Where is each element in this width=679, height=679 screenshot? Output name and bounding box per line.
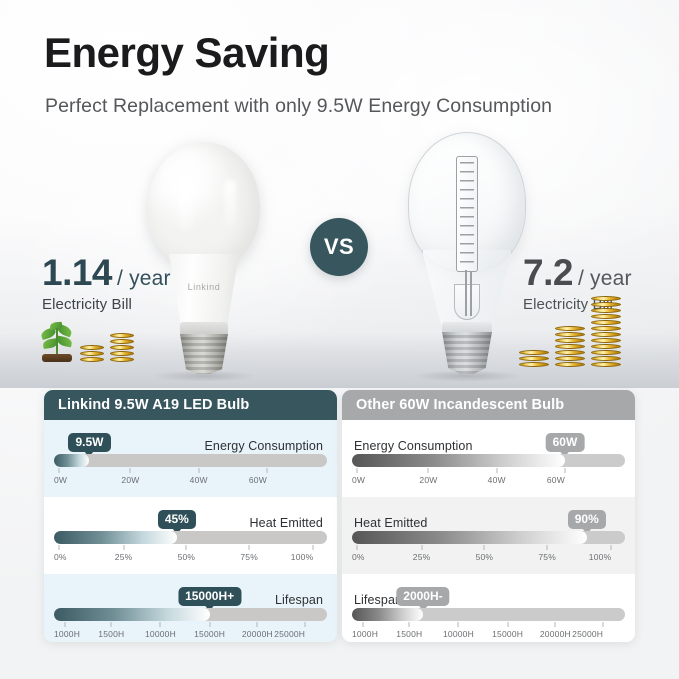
axis-ticks — [352, 545, 625, 552]
axis-tick-label: 60W — [249, 475, 267, 485]
axis-tick-label: 0W — [352, 475, 365, 485]
axis-tick-label: 100% — [291, 552, 314, 562]
axis-tick — [507, 622, 508, 627]
axis-tick — [611, 545, 612, 550]
led-bulb-highlight-left — [178, 176, 193, 232]
metric-bar-track — [54, 454, 327, 467]
metric-bar-track — [352, 608, 625, 621]
metric-header: Energy Consumption9.5W — [54, 432, 327, 454]
axis-tick-label: 0W — [54, 475, 67, 485]
axis-tick-label: 1500H — [396, 629, 422, 639]
axis-tick — [409, 622, 410, 627]
metric-row: Lifespan2000H-1000H1500H10000H15000H2000… — [342, 574, 635, 642]
metric-row: Heat Emitted90%0%25%50%75%100% — [342, 497, 635, 574]
metric-header: Heat Emitted90% — [352, 509, 625, 531]
metric-label: Lifespan — [275, 593, 323, 607]
metric-header: Energy Consumption60W — [352, 432, 625, 454]
axis-ticks — [352, 468, 625, 475]
metric-row: Lifespan15000H+1000H1500H10000H15000H200… — [44, 574, 337, 642]
metric-label: Heat Emitted — [354, 516, 427, 530]
axis-tick — [257, 622, 258, 627]
incandescent-cost-coins — [519, 296, 621, 367]
metric-bar-fill — [54, 608, 210, 621]
axis-tick — [547, 545, 548, 550]
axis-tick-label: 0% — [54, 552, 67, 562]
axis-tick — [111, 622, 112, 627]
axis-tick — [496, 468, 497, 473]
led-electricity-stat: 1.14 / year Electricity Bill — [42, 252, 171, 313]
axis-tick-label: 75% — [538, 552, 556, 562]
axis-tick — [362, 622, 363, 627]
axis-tick — [428, 468, 429, 473]
axis-tick-label: 50% — [178, 552, 196, 562]
axis-tick-label: 10000H — [443, 629, 474, 639]
metric-bar-track — [352, 454, 625, 467]
axis-tick-label: 1000H — [352, 629, 378, 639]
incandescent-bill-value: 7.2 — [523, 252, 573, 294]
axis-tick — [266, 468, 267, 473]
axis-tick — [313, 545, 314, 550]
axis-tick — [160, 622, 161, 627]
incandescent-bulb-screw-base — [441, 332, 493, 374]
axis-tick-label: 1000H — [54, 629, 80, 639]
axis-tick-label: 60W — [547, 475, 565, 485]
axis-tick-labels: 1000H1500H10000H15000H20000H25000H — [352, 629, 625, 642]
incandescent-bill-period: / year — [578, 267, 632, 291]
axis-ticks — [54, 622, 327, 629]
metric-header: Heat Emitted45% — [54, 509, 327, 531]
axis-tick-labels: 0W20W40W60W — [54, 475, 327, 488]
axis-tick — [198, 468, 199, 473]
metric-row: Energy Consumption60W0W20W40W60W — [342, 420, 635, 497]
metric-bar-fill — [352, 454, 565, 467]
metric-bar-track — [54, 531, 327, 544]
metric-bar-fill — [352, 608, 423, 621]
led-savings-coins — [40, 318, 134, 362]
axis-tick — [421, 545, 422, 550]
metric-bar-track — [54, 608, 327, 621]
page-title: Energy Saving — [44, 30, 329, 75]
incandescent-metrics: Energy Consumption60W0W20W40W60WHeat Emi… — [342, 420, 635, 642]
axis-tick-label: 15000H — [492, 629, 523, 639]
coin-stack-medium — [555, 326, 585, 367]
axis-tick — [130, 468, 131, 473]
coin-stack-small — [80, 345, 104, 362]
incandescent-panel-title: Other 60W Incandescent Bulb — [342, 390, 635, 420]
metric-value-text: 9.5W — [75, 435, 103, 449]
axis-tick — [357, 545, 358, 550]
led-metrics: Energy Consumption9.5W0W20W40W60WHeat Em… — [44, 420, 337, 642]
led-bulb-collar — [180, 322, 228, 336]
axis-ticks — [54, 468, 327, 475]
incandescent-comparison-panel: Other 60W Incandescent Bulb Energy Consu… — [342, 390, 635, 642]
led-bulb-glass — [148, 142, 260, 270]
axis-tick-label: 25000H — [274, 629, 305, 639]
axis-tick — [64, 622, 65, 627]
metric-value-bubble: 45% — [158, 510, 196, 529]
vs-badge-label: VS — [324, 234, 354, 260]
axis-tick — [209, 622, 210, 627]
axis-tick-label: 1500H — [98, 629, 124, 639]
axis-tick — [555, 622, 556, 627]
axis-tick-label: 15000H — [194, 629, 225, 639]
axis-tick — [305, 622, 306, 627]
axis-tick-label: 25% — [115, 552, 133, 562]
metric-value-bubble: 15000H+ — [178, 587, 241, 606]
metric-label: Energy Consumption — [204, 439, 323, 453]
axis-tick-label: 0% — [352, 552, 365, 562]
metric-header: Lifespan15000H+ — [54, 586, 327, 608]
incandescent-bulb-image — [408, 132, 526, 374]
axis-tick — [458, 622, 459, 627]
led-bill-caption: Electricity Bill — [42, 296, 171, 313]
axis-tick — [186, 545, 187, 550]
incandescent-filament-stem-left — [465, 270, 467, 316]
axis-tick-label: 25000H — [572, 629, 603, 639]
axis-tick — [564, 468, 565, 473]
metric-row: Energy Consumption9.5W0W20W40W60W — [44, 420, 337, 497]
metric-value-bubble: 90% — [568, 510, 606, 529]
metric-value-text: 60W — [553, 435, 578, 449]
axis-tick — [249, 545, 250, 550]
axis-tick-label: 40W — [488, 475, 506, 485]
axis-tick-label: 20W — [121, 475, 139, 485]
metric-bar-fill — [352, 531, 587, 544]
metric-value-text: 2000H- — [403, 589, 442, 603]
led-bill-value: 1.14 — [42, 252, 112, 294]
axis-tick-label: 100% — [589, 552, 612, 562]
led-panel-title: Linkind 9.5W A19 LED Bulb — [44, 390, 337, 420]
axis-tick-label: 40W — [190, 475, 208, 485]
metric-bar-track — [352, 531, 625, 544]
axis-tick — [484, 545, 485, 550]
axis-tick — [59, 545, 60, 550]
axis-tick-label: 10000H — [145, 629, 176, 639]
metric-value-text: 45% — [165, 512, 189, 526]
coin-stack-large — [591, 296, 621, 367]
axis-tick-label: 20000H — [540, 629, 571, 639]
page-subtitle: Perfect Replacement with only 9.5W Energ… — [45, 95, 552, 118]
axis-tick-label: 20000H — [242, 629, 273, 639]
axis-tick — [357, 468, 358, 473]
metric-value-bubble: 60W — [546, 433, 585, 452]
axis-tick — [603, 622, 604, 627]
axis-tick-label: 25% — [413, 552, 431, 562]
metric-value-text: 90% — [575, 512, 599, 526]
metric-label: Lifespan — [354, 593, 402, 607]
incandescent-filament-coil — [460, 162, 474, 266]
incandescent-filament-base — [454, 284, 480, 320]
led-comparison-panel: Linkind 9.5W A19 LED Bulb Energy Consump… — [44, 390, 337, 642]
metric-row: Heat Emitted45%0%25%50%75%100% — [44, 497, 337, 574]
metric-header: Lifespan2000H- — [352, 586, 625, 608]
axis-tick — [123, 545, 124, 550]
metric-label: Heat Emitted — [250, 516, 323, 530]
axis-tick-labels: 0W20W40W60W — [352, 475, 625, 488]
metric-value-text: 15000H+ — [185, 589, 234, 603]
metric-value-bubble: 9.5W — [68, 433, 110, 452]
led-bulb-highlight-right — [224, 180, 236, 228]
led-bill-period: / year — [117, 267, 171, 291]
coin-stack-small — [519, 350, 549, 367]
axis-tick-label: 75% — [240, 552, 258, 562]
axis-tick-labels: 0%25%50%75%100% — [352, 552, 625, 565]
axis-tick-label: 20W — [419, 475, 437, 485]
metric-value-bubble: 2000H- — [396, 587, 449, 606]
axis-ticks — [54, 545, 327, 552]
axis-tick — [59, 468, 60, 473]
axis-ticks — [352, 622, 625, 629]
axis-tick-labels: 1000H1500H10000H15000H20000H25000H — [54, 629, 327, 642]
axis-tick-label: 50% — [476, 552, 494, 562]
metric-bar-fill — [54, 454, 89, 467]
incandescent-filament-stem-right — [470, 272, 472, 316]
metric-label: Energy Consumption — [354, 439, 473, 453]
axis-tick-labels: 0%25%50%75%100% — [54, 552, 327, 565]
plant-icon — [40, 318, 74, 362]
led-bulb-screw-base — [179, 334, 229, 374]
metric-bar-fill — [54, 531, 177, 544]
coin-stack-medium — [110, 333, 134, 362]
vs-badge: VS — [310, 218, 368, 276]
